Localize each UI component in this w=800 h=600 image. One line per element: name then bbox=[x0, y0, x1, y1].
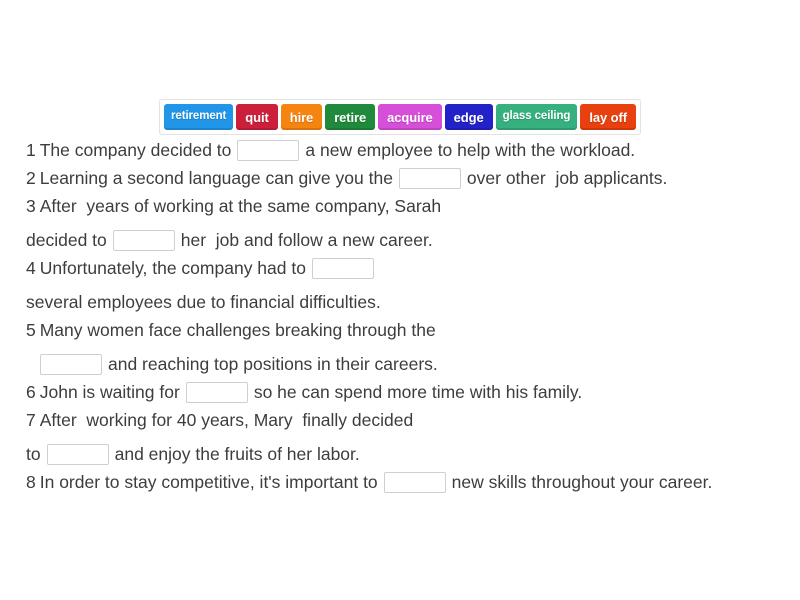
sentence-text: her job and follow a new career. bbox=[181, 230, 433, 251]
sentence-text: John is waiting for bbox=[40, 382, 180, 403]
sentence-text: new skills throughout your career. bbox=[452, 472, 713, 493]
question-number: 6 bbox=[26, 382, 36, 403]
question-number: 8 bbox=[26, 472, 36, 493]
sentence-line: 5Many women face challenges breaking thr… bbox=[26, 316, 786, 344]
sentence-line: 2Learning a second language can give you… bbox=[26, 164, 786, 192]
word-tile-edge[interactable]: edge bbox=[445, 104, 493, 130]
sentence-text: Unfortunately, the company had to bbox=[40, 258, 306, 279]
sentence-text: a new employee to help with the workload… bbox=[305, 140, 635, 161]
sentence-list: 1The company decided toa new employee to… bbox=[26, 136, 786, 496]
word-tile-retirement[interactable]: retirement bbox=[164, 104, 233, 130]
question-number: 4 bbox=[26, 258, 36, 279]
word-tile-hire[interactable]: hire bbox=[281, 104, 322, 130]
question-number: 1 bbox=[26, 140, 36, 161]
answer-blank-input[interactable] bbox=[186, 382, 248, 403]
word-bank-container: retirementquithireretireacquireedgeglass… bbox=[0, 99, 800, 135]
question-number: 3 bbox=[26, 196, 36, 217]
sentence-text: and reaching top positions in their care… bbox=[108, 354, 438, 375]
sentence-text: Learning a second language can give you … bbox=[40, 168, 393, 189]
sentence-line: toand enjoy the fruits of her labor. bbox=[26, 440, 786, 468]
word-tile-lay-off[interactable]: lay off bbox=[580, 104, 636, 130]
sentence-text: decided to bbox=[26, 230, 107, 251]
sentence-text: Many women face challenges breaking thro… bbox=[40, 320, 436, 341]
sentence-text: After years of working at the same compa… bbox=[40, 196, 441, 217]
sentence-text: After working for 40 years, Mary finally… bbox=[40, 410, 414, 431]
question-number: 5 bbox=[26, 320, 36, 341]
sentence-text: so he can spend more time with his famil… bbox=[254, 382, 582, 403]
sentence-text: The company decided to bbox=[40, 140, 232, 161]
answer-blank-input[interactable] bbox=[399, 168, 461, 189]
answer-blank-input[interactable] bbox=[40, 354, 102, 375]
word-tile-quit[interactable]: quit bbox=[236, 104, 277, 130]
question-number: 7 bbox=[26, 410, 36, 431]
sentence-text: In order to stay competitive, it's impor… bbox=[40, 472, 378, 493]
sentence-line: 4Unfortunately, the company had to bbox=[26, 254, 786, 282]
worksheet-page: retirementquithireretireacquireedgeglass… bbox=[0, 0, 800, 600]
answer-blank-input[interactable] bbox=[47, 444, 109, 465]
word-tile-retire[interactable]: retire bbox=[325, 104, 375, 130]
sentence-line: 3After years of working at the same comp… bbox=[26, 192, 786, 220]
sentence-line: several employees due to financial diffi… bbox=[26, 288, 786, 316]
sentence-text: several employees due to financial diffi… bbox=[26, 292, 381, 313]
word-tile-acquire[interactable]: acquire bbox=[378, 104, 442, 130]
question-number: 2 bbox=[26, 168, 36, 189]
sentence-line: and reaching top positions in their care… bbox=[26, 350, 786, 378]
answer-blank-input[interactable] bbox=[113, 230, 175, 251]
sentence-line: decided toher job and follow a new caree… bbox=[26, 226, 786, 254]
word-tile-glass-ceiling[interactable]: glass ceiling bbox=[496, 104, 578, 130]
answer-blank-input[interactable] bbox=[384, 472, 446, 493]
sentence-line: 7After working for 40 years, Mary finall… bbox=[26, 406, 786, 434]
sentence-text: to bbox=[26, 444, 41, 465]
answer-blank-input[interactable] bbox=[312, 258, 374, 279]
sentence-text: and enjoy the fruits of her labor. bbox=[115, 444, 360, 465]
answer-blank-input[interactable] bbox=[237, 140, 299, 161]
sentence-text: over other job applicants. bbox=[467, 168, 667, 189]
sentence-line: 6John is waiting forso he can spend more… bbox=[26, 378, 786, 406]
sentence-line: 8In order to stay competitive, it's impo… bbox=[26, 468, 786, 496]
sentence-line: 1The company decided toa new employee to… bbox=[26, 136, 786, 164]
word-bank: retirementquithireretireacquireedgeglass… bbox=[159, 99, 641, 135]
